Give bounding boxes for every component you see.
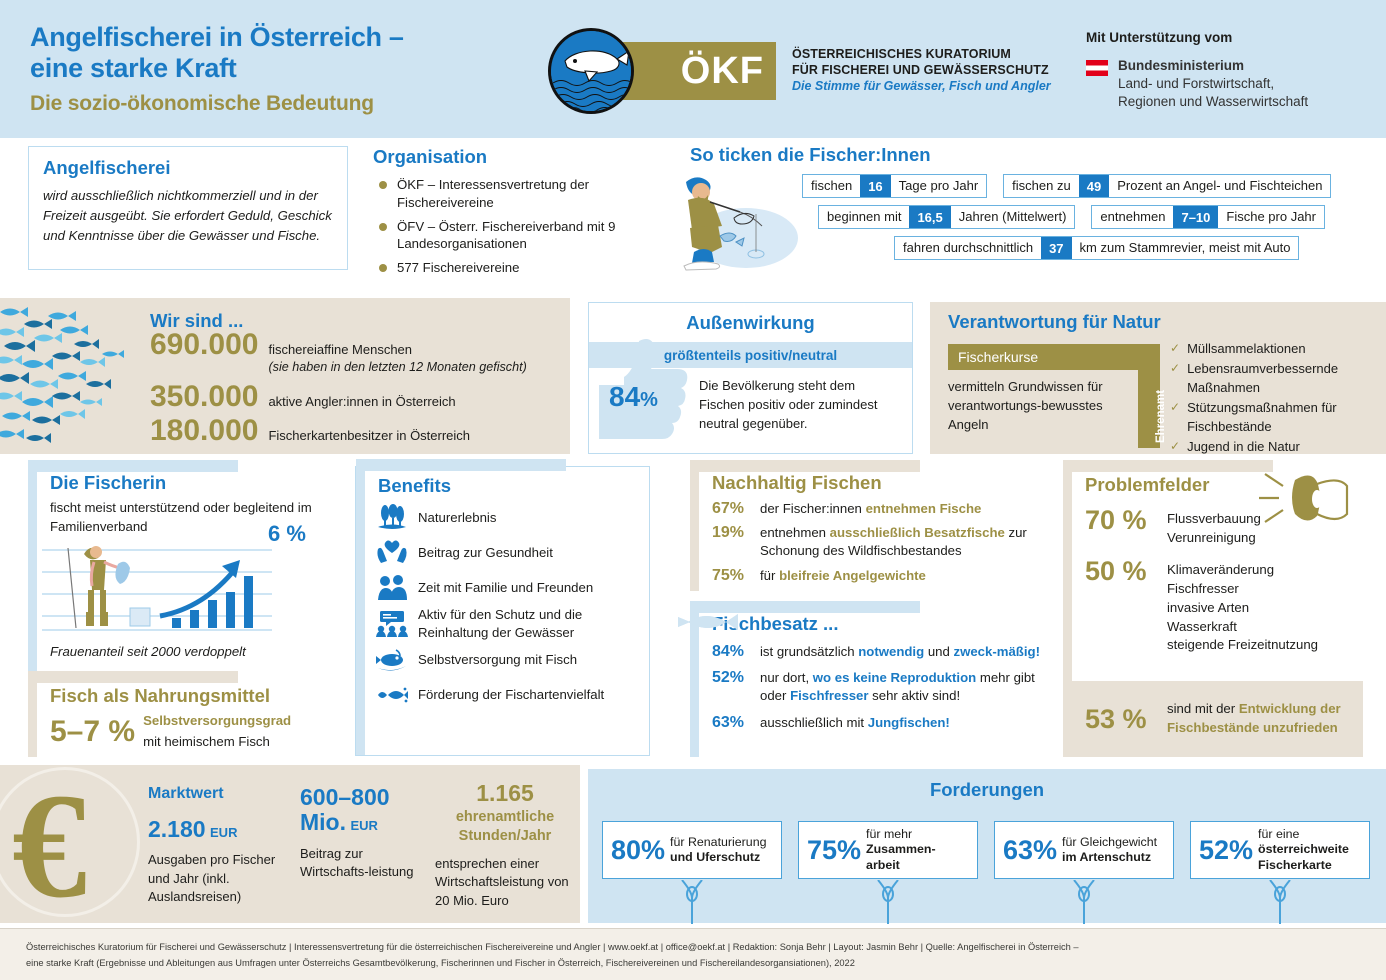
money-col3-sub2: Stunden/Jahr [459,828,552,844]
list-item: Naturerlebnis [376,501,649,535]
list-item: ✓Stützungsmaßnahmen für Fischbestände [1170,399,1380,436]
forderungen-cards: 80% für Renaturierungund Uferschutz 75% … [602,821,1370,879]
fischbesatz-row-84: 84% ist grundsätzlich notwendig und zwec… [712,643,1040,661]
card-verantwortung: Verantwortung für Natur Fischerkurse ver… [930,302,1386,454]
page-subtitle: Die sozio-ökonomische Bedeutung [30,92,550,116]
nahrung-title: Fisch als Nahrungsmittel [50,685,328,707]
fischerkurse-body: vermitteln Grundwissen für verantwortung… [948,378,1138,435]
fact-rest: Jahren (Mittelwert) [951,206,1075,228]
hands-heart-icon [376,539,408,567]
fischbesatz-pre: ist grundsätzlich [760,644,858,659]
fischbesatz-hi: Jungfischen! [868,715,950,730]
forderung-line1: für Renaturierung [670,835,766,849]
fischbesatz-hi2: Fischfresser [790,688,868,703]
problem-footer: 53 % sind mit der Entwicklung der Fischb… [1063,681,1363,757]
card-money: € Marktwert 2.180 EUR Ausgaben pro Fisch… [0,765,580,923]
so-ticken-title: So ticken die Fischer:Innen [690,144,1370,166]
money-col3-value: 1.165 [435,781,575,806]
ministry-support-block: Mit Unterstützung vom Bundesministerium … [1086,30,1376,112]
nachhaltig-row-19: 19% entnehmen ausschließlich Besatzfisch… [712,524,1040,560]
fact-rest: km zum Stammrevier, meist mit Auto [1072,237,1299,259]
fact-fischen-prozent: fischen zu 49 Prozent an Angel- und Fisc… [1003,174,1331,198]
card-angelfischerei: Angelfischerei wird ausschließlich nicht… [28,146,348,270]
nahrung-tab-bar [28,671,238,683]
okf-line2: FÜR FISCHEREI UND GEWÄSSERSCHUTZ [792,62,1051,78]
benefits-item-1: Beitrag zur Gesundheit [418,544,553,562]
fact-value: 37 [1041,237,1071,259]
fischbesatz-hi: wo es keine Reproduktion [813,670,976,685]
list-item: Beitrag zur Gesundheit [376,536,649,570]
check-icon: ✓ [1170,360,1180,397]
forderung-pct: 52% [1199,837,1253,864]
card-forderungen: Forderungen 80% für Renaturierungund Ufe… [588,769,1386,923]
nachhaltig-hi: bleifreie Angelgewichte [779,568,926,583]
benefits-item-2: Zeit mit Familie und Freunden [418,579,593,597]
check-icon: ✓ [1170,438,1180,456]
fact-entnehmen-fische: entnehmen 7–10 Fische pro Jahr [1091,205,1325,229]
organisation-list: ÖKF – Interessensvertretung der Fischere… [373,176,673,277]
list-item: ✓Jugend in die Natur [1170,438,1380,456]
stat-text: fischereiaffine Menschen [268,342,412,357]
nachhaltig-left-bar [690,466,699,591]
forderung-line2: österreichweite Fischerkarte [1258,842,1349,872]
row-economy: € Marktwert 2.180 EUR Ausgaben pro Fisch… [0,765,1386,925]
forderung-line2: und Uferschutz [670,850,760,864]
fish-silhouette-icon [678,609,740,635]
fact-row-1: fischen 16 Tage pro Jahr fischen zu 49 P… [802,174,1370,198]
title-block: Angelfischerei in Österreich – eine star… [30,22,550,116]
fact-fischen-tage: fischen 16 Tage pro Jahr [802,174,987,198]
problem-pct: 50 % [1085,557,1167,585]
money-col-marktwert: Marktwert 2.180 EUR Ausgaben pro Fischer… [148,785,288,907]
sign-post-icon [1068,880,1100,924]
footer-line1: Österreichisches Kuratorium für Fischere… [26,939,1360,955]
angelfischerei-body: wird ausschließlich nichtkommerziell und… [43,186,333,245]
forderung-card-52[interactable]: 52% für eineösterreichweite Fischerkarte [1190,821,1370,879]
money-col3-body: entsprechen einer Wirtschaftsleistung vo… [435,855,575,910]
forderung-line1: für eine [1258,827,1299,841]
money-col2-body: Beitrag zur Wirtschafts-leistung [300,845,430,882]
forderung-pct: 63% [1003,837,1057,864]
fact-label: fahren durchschnittlich [895,237,1041,259]
nachhaltig-row-67: 67% der Fischer:innen entnehmen Fische [712,500,1040,518]
verantwortung-item-0: Müllsammelaktionen [1187,340,1306,358]
list-item: Aktiv für den Schutz und die Reinhaltung… [376,606,649,642]
fischbesatz-pre: nur dort, [760,670,813,685]
ministry-title: Mit Unterstützung vom [1086,30,1376,45]
organisation-title: Organisation [373,146,673,168]
check-icon: ✓ [1170,399,1180,436]
row-statistics: Wir sind ... 690.000 fischereiaffine Men… [0,298,1386,458]
list-item: 577 Fischereivereine [373,259,673,277]
list-item: ✓Lebensraumverbessernde Maßnahmen [1170,360,1380,397]
austrian-flag-icon [1086,60,1108,76]
problem-text: Klimaveränderung Fischfresser invasive A… [1167,557,1318,655]
benefits-item-3: Aktiv für den Schutz und die Reinhaltung… [418,606,649,642]
money-col2-value1: 600–800 [300,785,430,810]
problem-text: Flussverbauung Verunreinigung [1167,506,1261,547]
aussenwirkung-title: Außenwirkung [589,303,912,334]
benefits-item-5: Förderung der Fischartenvielfalt [418,686,604,704]
page-title: Angelfischerei in Österreich – eine star… [30,22,550,85]
nachhaltig-row-75: 75% für bleifreie Angelgewichte [712,567,1040,585]
fischerin-left-bar [28,466,37,676]
card-die-fischerin: Die Fischerin fischt meist unterstützend… [28,466,328,676]
fact-row-3: fahren durchschnittlich 37 km zum Stammr… [894,236,1370,260]
nahrung-line1: Selbstversorgungsgrad [143,713,291,728]
nahrung-line2: mit heimischem Fisch [143,734,270,749]
bullet-icon [379,181,387,189]
fischerin-caption: Frauenanteil seit 2000 verdoppelt [50,644,246,659]
fact-rest: Tage pro Jahr [891,175,987,197]
nachhaltig-pre: entnehmen [760,525,830,540]
fact-rest: Fische pro Jahr [1218,206,1324,228]
forderung-line2: Zusammen-arbeit [866,842,936,872]
fischbesatz-hi2: zweck-mäßig! [954,644,1040,659]
fischerin-tab-bar [28,460,238,472]
card-fisch-nahrungsmittel: Fisch als Nahrungsmittel 5–7 % Selbstver… [28,677,328,757]
card-fischbesatz: Fischbesatz ... 84% ist grundsätzlich no… [690,607,1040,757]
page-title-line2: eine starke Kraft [30,53,550,84]
nachhaltig-pct: 19% [712,524,760,560]
stat-row-180000: 180.000 Fischerkartenbesitzer in Österre… [150,416,470,446]
stat-text: aktive Angler:innen in Österreich [268,394,455,411]
money-col2-unit: EUR [350,818,377,833]
fact-beginnen-alter: beginnen mit 16,5 Jahren (Mittelwert) [818,205,1075,229]
forderung-pct: 75% [807,837,861,864]
list-item: Zeit mit Familie und Freunden [376,571,649,605]
okf-line1: ÖSTERREICHISCHES KURATORIUM [792,46,1051,62]
nachhaltig-hi: ausschließlich Besatzfische [830,525,1005,540]
nachhaltig-pre: für [760,568,779,583]
list-item: Förderung der Fischartenvielfalt [376,678,649,712]
aussenwirkung-body: Die Bevölkerung steht dem Fischen positi… [699,377,899,434]
fischbesatz-hi: notwendig [858,644,924,659]
forderung-pct: 80% [611,837,665,864]
card-aussenwirkung: Außenwirkung größtenteils positiv/neutra… [588,302,913,454]
trees-icon [376,504,408,532]
benefits-list: Naturerlebnis Beitrag zur Gesundheit Zei… [356,501,649,712]
list-item: Selbstversorgung mit Fisch [376,643,649,677]
sign-post-icon [872,880,904,924]
meeting-icon [376,610,408,638]
nachhaltig-pct: 67% [712,500,760,518]
forderung-line1: für mehr [866,827,912,841]
stat-note: (sie haben in den letzten 12 Monaten gef… [268,360,526,374]
organisation-item-0: ÖKF – Interessensvertretung der Fischere… [397,176,673,212]
list-item: ÖFV – Österr. Fischereiverband mit 9 Lan… [373,218,673,254]
verantwortung-list: ✓Müllsammelaktionen ✓Lebensraumverbesser… [1170,340,1380,459]
money-col1-value: 2.180 [148,816,206,842]
aussenwirkung-percent: 84% [609,381,658,413]
nachhaltig-title: Nachhaltig Fischen [712,472,1040,494]
money-col-ehrenamt: 1.165 ehrenamtliche Stunden/Jahr entspre… [435,781,575,910]
sign-post-icon [1264,880,1296,924]
row-intro: Angelfischerei wird ausschließlich nicht… [0,138,1386,296]
money-col1-head: Marktwert [148,785,288,803]
fish-swarm-icon [0,298,144,454]
card-wir-sind: Wir sind ... 690.000 fischereiaffine Men… [0,298,570,454]
card-organisation: Organisation ÖKF – Interessensvertretung… [373,146,673,283]
nahrung-left-bar [28,677,37,757]
ministry-line2: Land- und Forstwirtschaft, [1118,75,1308,93]
problem-footer-pct: 53 % [1085,704,1167,735]
fact-label: beginnen mit [819,206,909,228]
fischbesatz-post: sehr aktiv sind! [869,688,961,703]
okf-logo: ÖKF ÖSTERREICHISCHES KURATORIUM FÜR FISC… [548,28,1051,114]
money-col1-unit: EUR [210,825,237,840]
problem-row-50: 50 % Klimaveränderung Fischfresser invas… [1085,557,1363,655]
list-item: ÖKF – Interessensvertretung der Fischere… [373,176,673,212]
fischbesatz-pct: 84% [712,643,760,661]
fact-label: fischen [803,175,860,197]
benefits-left-bar [356,467,365,755]
fischbesatz-pct: 52% [712,669,760,705]
page-footer: Österreichisches Kuratorium für Fischere… [0,928,1386,980]
benefits-title: Benefits [356,467,649,497]
nachhaltig-tab-bar [690,460,920,472]
megaphone-icon [1257,470,1357,530]
fischbesatz-pre: ausschließlich mit [760,715,868,730]
money-col1-body: Ausgaben pro Fischer und Jahr (inkl. Aus… [148,851,288,906]
card-benefits: Benefits Naturerlebnis Beitrag zur Gesun… [355,466,650,756]
fischerin-title: Die Fischerin [50,472,328,494]
fact-value: 16 [860,175,890,197]
forderung-card-75[interactable]: 75% für mehrZusammen-arbeit [798,821,978,879]
bullet-icon [379,223,387,231]
fischbesatz-row-52: 52% nur dort, wo es keine Reproduktion m… [712,669,1040,705]
list-item: ✓Müllsammelaktionen [1170,340,1380,358]
verantwortung-item-3: Jugend in die Natur [1187,438,1300,456]
organisation-item-1: ÖFV – Österr. Fischereiverband mit 9 Lan… [397,218,673,254]
stat-number: 350.000 [150,382,258,412]
stat-row-690000: 690.000 fischereiaffine Menschen (sie ha… [150,330,527,376]
euro-icon: € [12,771,87,921]
fischerkurse-band: Fischerkurse [948,344,1138,370]
fischbesatz-row-63: 63% ausschließlich mit Jungfischen! [712,714,1040,732]
fact-label: entnehmen [1092,206,1173,228]
stat-number: 180.000 [150,416,258,446]
fact-value: 16,5 [909,206,950,228]
row-details: Die Fischerin fischt meist unterstützend… [0,462,1386,762]
ehrenamt-vertical-bar: Ehrenamt [1138,344,1160,448]
page-title-line1: Angelfischerei in Österreich – [30,22,550,53]
problem-pct: 70 % [1085,506,1167,534]
card-so-ticken: So ticken die Fischer:Innen fischen 16 [690,144,1370,267]
card-problemfelder: Problemfelder 70 % Flussverbauung Verunr… [1063,466,1363,756]
nachhaltig-pct: 75% [712,567,760,585]
sign-post-icon [676,880,708,924]
money-col2-value2: Mio. [300,809,346,835]
organisation-item-2: 577 Fischereivereine [397,259,519,277]
stat-row-350000: 350.000 aktive Angler:innen in Österreic… [150,382,456,412]
ministry-line3: Regionen und Wasserwirtschaft [1118,93,1308,111]
forderung-line2: im Artenschutz [1062,850,1151,864]
fischbesatz-pct: 63% [712,714,760,732]
verantwortung-item-1: Lebensraumverbessernde Maßnahmen [1187,360,1380,397]
money-col3-sub1: ehrenamtliche [456,809,554,825]
stat-text: Fischerkartenbesitzer in Österreich [268,428,470,445]
okf-wordmark: ÖKF [616,42,776,100]
verantwortung-item-2: Stützungsmaßnahmen für Fischbestände [1187,399,1380,436]
forderungen-title: Forderungen [588,769,1386,801]
okf-line3: Die Stimme für Gewässer, Fisch und Angle… [792,78,1051,96]
okf-tagline-block: ÖSTERREICHISCHES KURATORIUM FÜR FISCHERE… [792,46,1051,96]
benefits-tab-bar [356,459,566,471]
check-icon: ✓ [1170,340,1180,358]
footer-line2: eine starke Kraft (Ergebnisse und Ableit… [26,955,1360,971]
fish-logo-icon [548,28,634,114]
money-col-beitrag: 600–800 Mio. EUR Beitrag zur Wirtschafts… [300,785,430,882]
fact-row-2: beginnen mit 16,5 Jahren (Mittelwert) en… [818,205,1370,229]
fischbesatz-title: Fischbesatz ... [712,613,1040,635]
fact-label: fischen zu [1004,175,1079,197]
benefits-item-0: Naturerlebnis [418,509,496,527]
fact-value: 49 [1079,175,1109,197]
fact-fahren-km: fahren durchschnittlich 37 km zum Stammr… [894,236,1299,260]
forderung-card-80[interactable]: 80% für Renaturierungund Uferschutz [602,821,782,879]
card-nachhaltig-fischen: Nachhaltig Fischen 67% der Fischer:innen… [690,466,1040,591]
page-header: Angelfischerei in Österreich – eine star… [0,0,1386,138]
benefits-item-4: Selbstversorgung mit Fisch [418,651,577,669]
ehrenamt-label: Ehrenamt [1155,390,1167,443]
fish-variety-icon [376,681,408,709]
problem-footer-pre: sind mit der [1167,701,1239,716]
forderung-card-63[interactable]: 63% für Gleichgewichtim Artenschutz [994,821,1174,879]
verantwortung-title: Verantwortung für Natur [930,302,1386,333]
forderung-line1: für Gleichgewicht [1062,835,1157,849]
nahrung-percent: 5–7 % [50,717,135,747]
fish-plate-icon [376,646,408,674]
fact-rest: Prozent an Angel- und Fischteichen [1109,175,1330,197]
angelfischerei-title: Angelfischerei [43,157,333,179]
stat-number: 690.000 [150,330,258,360]
nachhaltig-hi: entnehmen Fische [866,501,982,516]
ministry-line1: Bundesministerium [1118,57,1308,75]
angler-illustration-icon [668,166,798,276]
bullet-icon [379,264,387,272]
frauenanteil-bar-chart [42,536,312,636]
nachhaltig-pre: der Fischer:innen [760,501,866,516]
family-icon [376,574,408,602]
fact-value: 7–10 [1173,206,1218,228]
fischbesatz-mid: und [924,644,953,659]
